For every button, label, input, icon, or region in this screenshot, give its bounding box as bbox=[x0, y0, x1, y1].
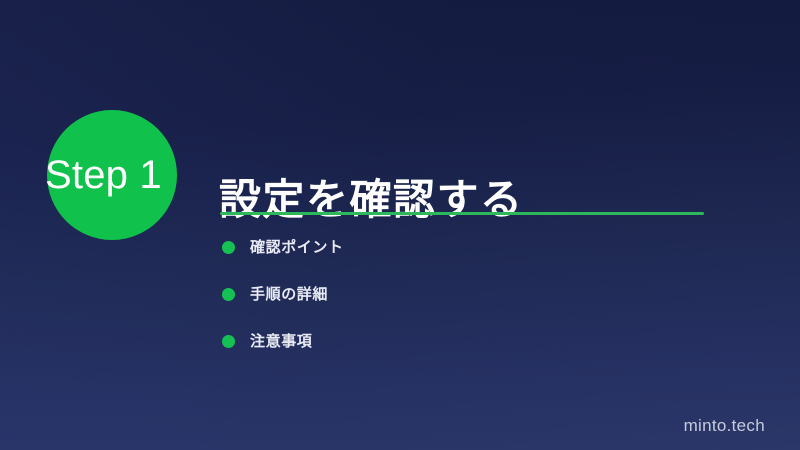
slide-content-layer: Step 1 設定を確認する 確認ポイント 手順の詳細 注意事項 minto.t… bbox=[0, 0, 800, 450]
watermark: minto.tech bbox=[684, 416, 765, 436]
list-item: 注意事項 bbox=[220, 332, 690, 379]
bullet-dot-icon bbox=[222, 288, 235, 301]
list-item-label: 手順の詳細 bbox=[250, 285, 328, 304]
title-divider bbox=[220, 212, 704, 215]
bullet-dot-icon bbox=[222, 241, 235, 254]
list-item-label: 注意事項 bbox=[250, 332, 312, 351]
bullet-dot-icon bbox=[222, 335, 235, 348]
step-badge-label: Step 1 bbox=[45, 151, 205, 199]
list-item: 手順の詳細 bbox=[220, 285, 690, 332]
list-item-label: 確認ポイント bbox=[250, 238, 344, 257]
slide-canvas: Step 1 設定を確認する 確認ポイント 手順の詳細 注意事項 minto.t… bbox=[0, 0, 800, 450]
bullet-list: 確認ポイント 手順の詳細 注意事項 bbox=[220, 238, 690, 379]
page-title: 設定を確認する bbox=[219, 174, 524, 226]
list-item: 確認ポイント bbox=[220, 238, 690, 285]
